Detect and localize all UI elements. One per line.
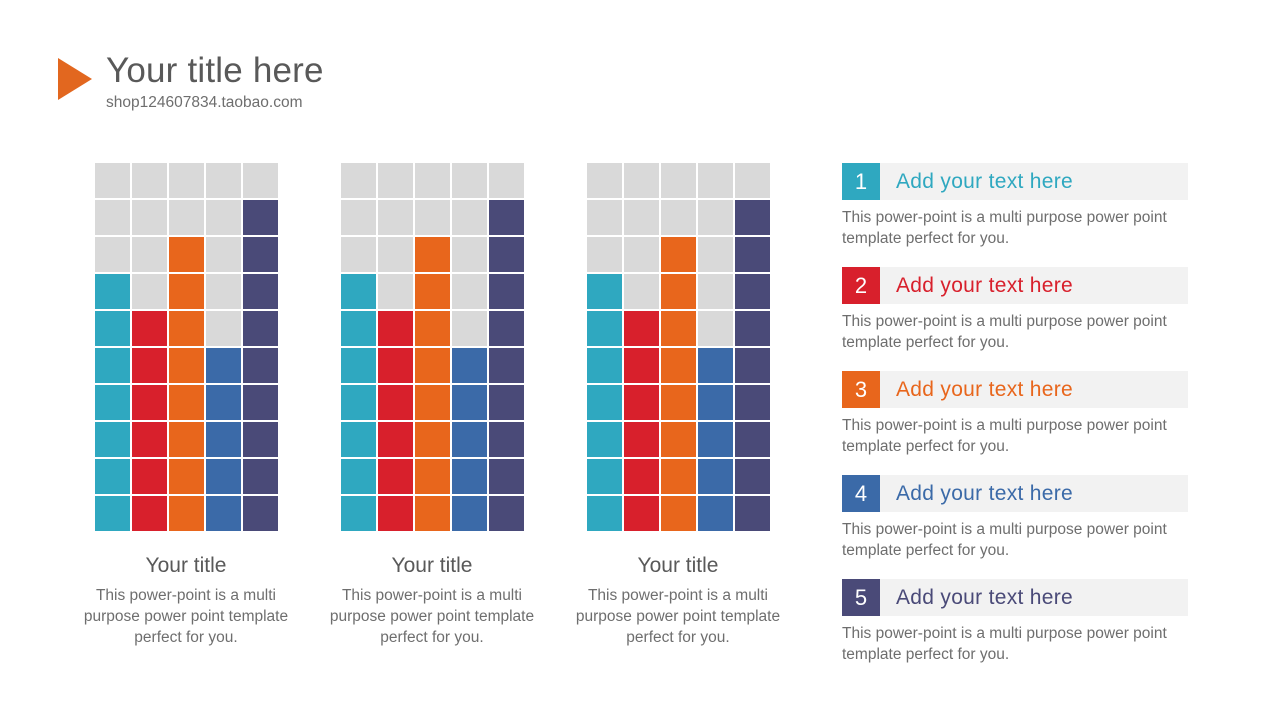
chart-cell-empty [206,163,241,198]
page-title: Your title here [106,50,324,92]
chart-cell-empty [587,163,622,198]
chart-cell-empty [95,237,130,272]
chart-cell-empty [206,237,241,272]
chart-cell-filled [378,311,413,346]
chart-cell-empty [587,237,622,272]
chart-cell-filled [452,385,487,420]
chart-cell-empty [378,163,413,198]
list-item-header[interactable]: 3Add your text here [842,371,1188,408]
chart-cell-filled [489,237,524,272]
list-item[interactable]: 5Add your text hereThis power-point is a… [842,579,1188,665]
chart-cell-filled [735,459,770,494]
chart-cell-empty [169,200,204,235]
chart-cell-filled [624,311,659,346]
chart-cell-filled [661,274,696,309]
chart-cell-filled [243,274,278,309]
chart-cell-filled [169,459,204,494]
chart-cell-filled [95,422,130,457]
chart-cell-filled [378,459,413,494]
chart-cell-filled [624,348,659,383]
chart-cell-empty [132,237,167,272]
list-item[interactable]: 4Add your text hereThis power-point is a… [842,475,1188,561]
chart-cell-filled [587,348,622,383]
chart-cell-empty [206,311,241,346]
chart-cell-filled [452,496,487,531]
chart-cell-filled [698,385,733,420]
chart-cell-empty [735,163,770,198]
chart-cell-filled [735,200,770,235]
block-chart-grid [95,163,278,531]
chart-cell-filled [378,422,413,457]
chart-cell-filled [169,385,204,420]
chart-cell-filled [132,496,167,531]
chart-cell-empty [587,200,622,235]
chart-cell-filled [378,385,413,420]
list-item[interactable]: 3Add your text hereThis power-point is a… [842,371,1188,457]
chart-cell-filled [169,274,204,309]
list-item-header[interactable]: 2Add your text here [842,267,1188,304]
chart-cell-empty [132,200,167,235]
chart-cell-filled [378,348,413,383]
chart-cell-filled [95,348,130,383]
block-chart-group: Your titleThis power-point is a multi pu… [96,163,768,648]
chart-cell-filled [415,422,450,457]
chart-cell-empty [169,163,204,198]
list-item-body: This power-point is a multi purpose powe… [842,311,1174,353]
text-item-list: 1Add your text hereThis power-point is a… [842,163,1188,665]
chart-cell-filled [587,311,622,346]
chart-cell-filled [587,274,622,309]
chart-cell-filled [169,311,204,346]
chart-cell-filled [415,496,450,531]
chart-cell-filled [206,459,241,494]
chart-cell-filled [206,422,241,457]
chart-cell-filled [698,459,733,494]
chart-cell-filled [341,274,376,309]
chart-cell-filled [489,385,524,420]
list-item-number-badge: 1 [842,163,880,200]
chart-cell-filled [243,237,278,272]
chart-cell-empty [95,163,130,198]
chart-cell-filled [735,311,770,346]
list-item[interactable]: 1Add your text hereThis power-point is a… [842,163,1188,249]
list-item-number-badge: 2 [842,267,880,304]
list-item-title[interactable]: Add your text here [880,163,1188,200]
chart-cell-empty [698,163,733,198]
chart-caption-title: Your title [638,553,719,579]
chart-cell-filled [489,496,524,531]
chart-cell-filled [341,385,376,420]
chart-cell-filled [415,311,450,346]
chart-cell-filled [661,237,696,272]
list-item[interactable]: 2Add your text hereThis power-point is a… [842,267,1188,353]
block-chart-grid [341,163,524,531]
chart-cell-empty [452,237,487,272]
chart-cell-empty [452,163,487,198]
chart-cell-filled [243,348,278,383]
chart-cell-filled [698,496,733,531]
chart-cell-filled [132,348,167,383]
chart-cell-filled [661,459,696,494]
chart-cell-filled [243,496,278,531]
chart-cell-empty [132,274,167,309]
chart-cell-empty [624,237,659,272]
chart-caption-body: This power-point is a multi purpose powe… [325,585,540,648]
chart-cell-filled [341,311,376,346]
chart-cell-filled [169,422,204,457]
chart-cell-empty [378,200,413,235]
chart-cell-filled [243,200,278,235]
chart-cell-empty [698,237,733,272]
chart-cell-empty [132,163,167,198]
chart-cell-empty [489,163,524,198]
chart-cell-filled [624,496,659,531]
chart-cell-filled [169,237,204,272]
list-item-number-badge: 5 [842,579,880,616]
chart-cell-filled [489,348,524,383]
chart-caption-title: Your title [392,553,473,579]
chart-cell-filled [735,422,770,457]
chart-cell-filled [243,385,278,420]
list-item-title[interactable]: Add your text here [880,371,1188,408]
chart-cell-empty [243,163,278,198]
list-item-header[interactable]: 4Add your text here [842,475,1188,512]
chart-cell-filled [452,348,487,383]
chart-cell-filled [587,496,622,531]
chart-cell-filled [661,422,696,457]
chart-cell-empty [95,200,130,235]
chart-cell-filled [95,459,130,494]
chart-cell-empty [206,200,241,235]
chart-cell-filled [95,274,130,309]
chart-cell-filled [341,459,376,494]
list-item-title[interactable]: Add your text here [880,475,1188,512]
chart-cell-empty [661,200,696,235]
chart-cell-filled [132,385,167,420]
chart-cell-filled [415,348,450,383]
chart-cell-filled [243,311,278,346]
chart-cell-filled [587,422,622,457]
chart-cell-empty [341,200,376,235]
chart-cell-filled [415,385,450,420]
chart-cell-filled [341,496,376,531]
chart-cell-filled [452,459,487,494]
list-item-body: This power-point is a multi purpose powe… [842,623,1174,665]
chart-cell-empty [661,163,696,198]
chart-cell-filled [735,348,770,383]
list-item-title[interactable]: Add your text here [880,267,1188,304]
chart-cell-filled [489,459,524,494]
chart-cell-empty [415,200,450,235]
chart-cell-empty [415,163,450,198]
chart-cell-filled [243,459,278,494]
chart-cell-empty [341,237,376,272]
chart-cell-filled [341,348,376,383]
chart-cell-filled [206,496,241,531]
block-chart: Your titleThis power-point is a multi pu… [588,163,768,648]
chart-cell-empty [698,274,733,309]
chart-caption-body: This power-point is a multi purpose powe… [571,585,786,648]
chart-cell-filled [452,422,487,457]
chart-cell-empty [378,274,413,309]
block-chart: Your titleThis power-point is a multi pu… [342,163,522,648]
chart-cell-empty [698,200,733,235]
block-chart-grid [587,163,770,531]
list-item-number-badge: 3 [842,371,880,408]
chart-cell-filled [415,237,450,272]
chart-cell-filled [489,274,524,309]
chart-cell-filled [587,459,622,494]
chart-cell-empty [452,311,487,346]
list-item-number-badge: 4 [842,475,880,512]
chart-cell-filled [378,496,413,531]
chart-cell-empty [378,237,413,272]
chart-cell-filled [415,459,450,494]
list-item-header[interactable]: 5Add your text here [842,579,1188,616]
chart-cell-filled [169,348,204,383]
chart-cell-filled [243,422,278,457]
chart-cell-filled [624,459,659,494]
chart-cell-filled [132,311,167,346]
chart-cell-empty [624,163,659,198]
list-item-body: This power-point is a multi purpose powe… [842,207,1174,249]
chart-cell-filled [489,200,524,235]
chart-cell-filled [95,496,130,531]
chart-cell-filled [735,274,770,309]
list-item-body: This power-point is a multi purpose powe… [842,519,1174,561]
chart-cell-filled [489,422,524,457]
page-subtitle: shop124607834.taobao.com [106,93,324,113]
chart-cell-empty [206,274,241,309]
chart-caption-body: This power-point is a multi purpose powe… [79,585,294,648]
chart-cell-filled [132,422,167,457]
chart-cell-filled [661,385,696,420]
chart-cell-filled [735,496,770,531]
slide-header: Your title here shop124607834.taobao.com [58,50,324,113]
chart-cell-filled [624,385,659,420]
chart-cell-filled [661,348,696,383]
list-item-header[interactable]: 1Add your text here [842,163,1188,200]
chart-cell-empty [341,163,376,198]
header-text-group: Your title here shop124607834.taobao.com [106,50,324,113]
chart-caption-title: Your title [146,553,227,579]
chart-cell-filled [587,385,622,420]
chart-cell-empty [452,274,487,309]
chart-cell-filled [341,422,376,457]
chart-cell-filled [661,496,696,531]
chart-cell-filled [95,311,130,346]
chart-cell-filled [661,311,696,346]
chart-cell-filled [698,348,733,383]
chart-cell-filled [206,385,241,420]
chart-cell-filled [735,385,770,420]
chart-cell-filled [415,274,450,309]
chart-cell-filled [624,422,659,457]
list-item-title[interactable]: Add your text here [880,579,1188,616]
chart-cell-empty [698,311,733,346]
triangle-play-icon [58,58,92,100]
chart-cell-filled [169,496,204,531]
chart-cell-filled [735,237,770,272]
chart-cell-filled [489,311,524,346]
list-item-body: This power-point is a multi purpose powe… [842,415,1174,457]
chart-cell-filled [132,459,167,494]
chart-cell-filled [698,422,733,457]
chart-cell-filled [206,348,241,383]
chart-cell-empty [624,200,659,235]
chart-cell-empty [624,274,659,309]
chart-cell-empty [452,200,487,235]
chart-cell-filled [95,385,130,420]
block-chart: Your titleThis power-point is a multi pu… [96,163,276,648]
